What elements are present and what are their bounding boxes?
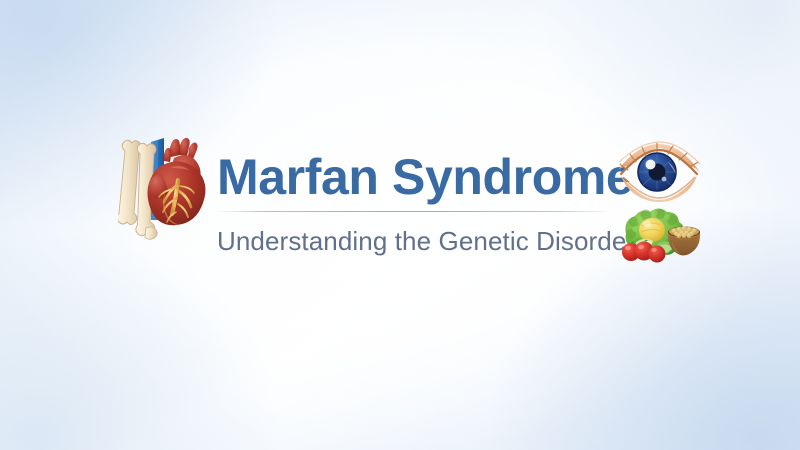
title-block: Marfan Syndrome Understanding the Geneti… (217, 148, 613, 256)
bone-shape-3 (145, 227, 157, 239)
page-title: Marfan Syndrome (217, 148, 613, 206)
squash-shape (639, 218, 665, 242)
eye-icon (616, 140, 702, 208)
background-corner-tint-bottom-left (0, 230, 290, 450)
healthy-food-icon (612, 204, 704, 272)
bones-and-heart-icon (118, 128, 214, 250)
title-slide: Marfan Syndrome Understanding the Geneti… (0, 0, 800, 450)
title-divider (217, 211, 613, 212)
page-subtitle: Understanding the Genetic Disorder (217, 226, 613, 256)
